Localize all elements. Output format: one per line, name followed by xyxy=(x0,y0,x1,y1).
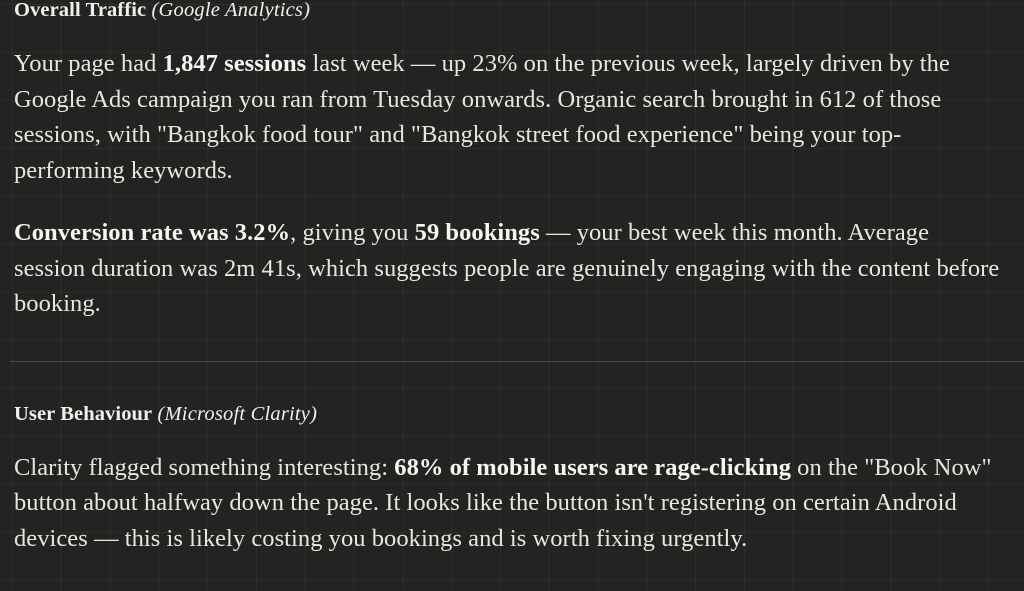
paragraph-behaviour-rage-clicks: Clarity flagged something interesting: 6… xyxy=(14,450,1000,557)
emphasised-text: 68% of mobile users are rage-clicking xyxy=(394,454,791,481)
body-text: Your page had xyxy=(14,50,163,77)
body-text: Clarity flagged something interesting: xyxy=(14,454,394,481)
spacer xyxy=(14,322,1000,361)
report-content: Overall Traffic (Google Analytics) Your … xyxy=(0,0,1024,556)
section-heading-source: (Microsoft Clarity) xyxy=(158,403,318,425)
report-page: Overall Traffic (Google Analytics) Your … xyxy=(0,0,1024,591)
section-heading-user-behaviour: User Behaviour (Microsoft Clarity) xyxy=(14,400,1000,428)
section-overall-traffic: Overall Traffic (Google Analytics) Your … xyxy=(14,0,1000,322)
spacer xyxy=(14,188,1000,215)
section-heading-title: Overall Traffic xyxy=(14,0,146,21)
spacer xyxy=(14,362,1000,400)
emphasised-text: 59 bookings xyxy=(415,219,540,246)
body-text: , giving you xyxy=(290,219,415,246)
spacer xyxy=(14,428,1000,450)
spacer xyxy=(14,24,1000,46)
emphasised-text: 1,847 sessions xyxy=(163,50,307,77)
emphasised-text: Conversion rate was 3.2% xyxy=(14,219,290,246)
section-heading-title: User Behaviour xyxy=(14,403,152,425)
section-heading-source: (Google Analytics) xyxy=(151,0,310,21)
paragraph-traffic-sessions: Your page had 1,847 sessions last week —… xyxy=(14,46,1000,188)
section-heading-overall-traffic: Overall Traffic (Google Analytics) xyxy=(14,0,1000,24)
section-user-behaviour: User Behaviour (Microsoft Clarity) Clari… xyxy=(14,400,1000,557)
paragraph-traffic-conversion: Conversion rate was 3.2%, giving you 59 … xyxy=(14,215,1000,322)
